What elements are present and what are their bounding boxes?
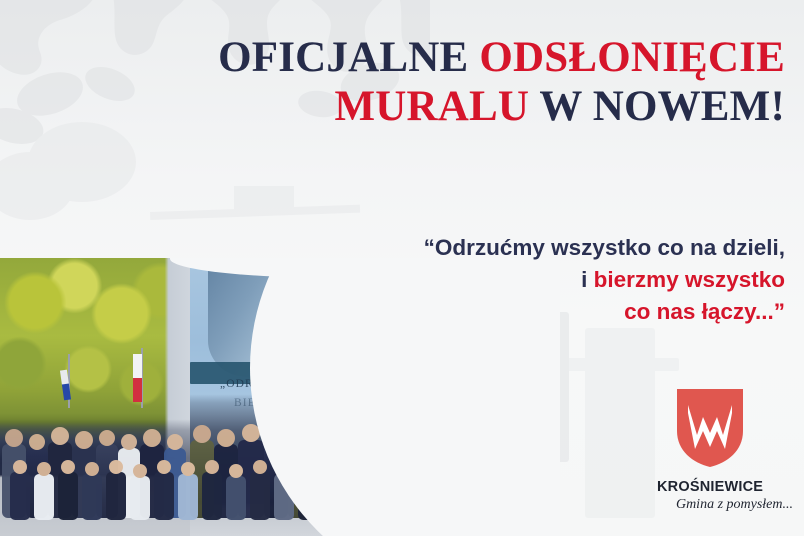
page-title: OFICJALNE ODSŁONIĘCIE MURALU W NOWEM! bbox=[165, 33, 785, 131]
shield-icon bbox=[675, 387, 745, 469]
quote-line-1: “Odrzućmy wszystko co na dzieli, bbox=[225, 232, 785, 264]
headline-line-2-plain: W NOWEM! bbox=[539, 83, 785, 130]
municipality-logo: KROŚNIEWICE Gmina z pomysłem... bbox=[657, 387, 797, 519]
logo-tagline: Gmina z pomysłem... bbox=[657, 497, 797, 513]
headline-line-1-plain: OFICJALNE bbox=[218, 34, 479, 81]
headline-line-1: OFICJALNE ODSŁONIĘCIE bbox=[165, 33, 785, 82]
quote-line-2: i bierzmy wszystko bbox=[225, 264, 785, 296]
headline-line-2-accent: MURALU bbox=[334, 83, 539, 130]
quote-line-3: co nas łączy...” bbox=[225, 296, 785, 328]
headline-line-1-accent: ODSŁONIĘCIE bbox=[479, 34, 785, 81]
pull-quote: “Odrzućmy wszystko co na dzieli, i bierz… bbox=[225, 232, 785, 328]
quote-line-2-accent: bierzmy wszystko bbox=[594, 267, 785, 292]
poster-canvas: „ODRZUĆMY WSZYSTKO, CO NAS DZIELI, BIERZ… bbox=[0, 0, 804, 536]
headline-line-2: MURALU W NOWEM! bbox=[165, 82, 785, 131]
logo-name: KROŚNIEWICE bbox=[657, 479, 797, 495]
quote-line-2-plain: i bbox=[581, 267, 594, 292]
